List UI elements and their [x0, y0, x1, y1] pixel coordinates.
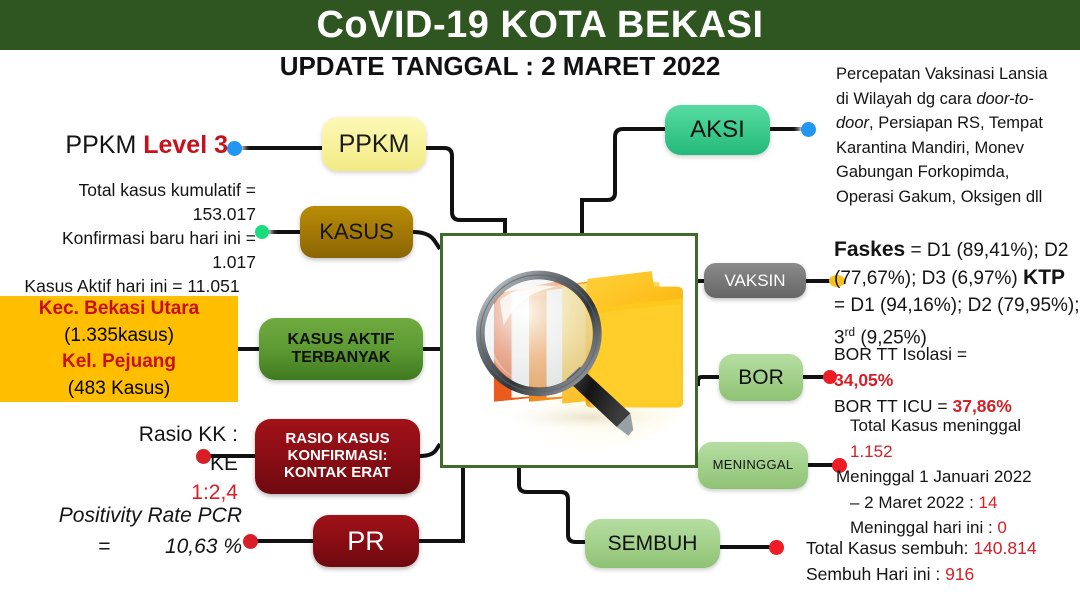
center-illustration-frame — [440, 233, 698, 468]
page-title: CoVID-19 KOTA BEKASI — [0, 2, 1080, 48]
meninggal-periode-line2: – 2 Maret 2022 : — [850, 493, 979, 512]
node-rasio-label: RASIO KASUS KONFIRMASI: KONTAK ERAT — [255, 431, 420, 481]
node-kasus-aktif-terbanyak[interactable]: KASUS AKTIF TERBANYAK — [259, 318, 423, 380]
ppkm-level-text: PPKM Level 3 — [60, 131, 228, 160]
node-kasus[interactable]: KASUS — [300, 206, 413, 258]
node-kasus-aktif-label: KASUS AKTIF TERBANYAK — [259, 331, 423, 367]
node-vaksin-label: VAKSIN — [704, 271, 806, 290]
bor-isolasi-label: BOR TT Isolasi = — [834, 341, 1080, 367]
aksi-description-text: Percepatan Vaksinasi Lansia di Wilayah d… — [836, 62, 1064, 210]
total-kumulatif-label: Total kasus kumulatif = — [8, 178, 256, 202]
meninggal-stats-text: Total Kasus meninggal 1.152 Meninggal 1 … — [836, 413, 1080, 541]
bor-isolasi-value: 34,05% — [834, 367, 1080, 393]
node-ppkm[interactable]: PPKM — [322, 117, 426, 171]
node-sembuh-label: SEMBUH — [585, 532, 720, 556]
node-bor[interactable]: BOR — [719, 354, 803, 401]
node-rasio-kasus-konfirmasi[interactable]: RASIO KASUS KONFIRMASI: KONTAK ERAT — [255, 419, 420, 494]
dot-pr — [243, 534, 258, 549]
highlight-kelurahan: Kel. Pejuang — [0, 349, 238, 376]
dot-aksi — [801, 122, 816, 137]
update-date-subtitle: UPDATE TANGGAL : 2 MARET 2022 — [180, 50, 820, 82]
kasus-stats-text: Total kasus kumulatif = 153.017 Konfirma… — [8, 178, 256, 298]
total-meninggal-label: Total Kasus meninggal — [836, 413, 1080, 439]
rasio-kk-ke-text: Rasio KK : KE 1:2,4 — [40, 420, 238, 507]
kasus-aktif-terbanyak-highlight: Kec. Bekasi Utara (1.335kasus) Kel. Peju… — [0, 296, 238, 402]
highlight-kecamatan-count: (1.335kasus) — [0, 323, 238, 350]
dot-kasus — [255, 225, 269, 239]
rasio-label-line2: KE — [40, 449, 238, 478]
konfirmasi-baru-label: Konfirmasi baru hari ini = — [8, 226, 256, 250]
sembuh-hari-value: 916 — [945, 564, 974, 584]
positivity-rate-equals: = — [98, 531, 110, 562]
positivity-rate-value: 10,63 % — [165, 535, 242, 558]
node-aksi-label: AKSI — [665, 117, 770, 144]
node-pr-label: PR — [313, 526, 419, 556]
kasus-aktif-hari-ini: Kasus Aktif hari ini = 11.051 — [8, 274, 256, 298]
sembuh-total-value: 140.814 — [973, 538, 1036, 558]
vaksin-stats-text: Faskes = D1 (89,41%); D2 (77,67%); D3 (6… — [834, 236, 1080, 351]
total-meninggal-value: 1.152 — [836, 439, 1080, 465]
bor-stats-text: BOR TT Isolasi = 34,05% BOR TT ICU = 37,… — [834, 341, 1080, 419]
node-kasus-label: KASUS — [300, 220, 413, 245]
rasio-label-line1: Rasio KK : — [40, 420, 238, 449]
highlight-kelurahan-count: (483 Kasus) — [0, 376, 238, 403]
folders-with-magnifying-glass-icon — [443, 236, 695, 465]
ppkm-label: PPKM — [65, 131, 143, 159]
konfirmasi-baru-value: 1.017 — [8, 250, 256, 274]
node-vaksin[interactable]: VAKSIN — [704, 263, 806, 298]
dot-ppkm — [227, 141, 242, 156]
meninggal-periode-line1: Meninggal 1 Januari 2022 — [836, 464, 1080, 490]
ktp-ordinal-suffix: rd — [845, 326, 855, 339]
faskes-label: Faskes — [834, 238, 905, 261]
dot-sembuh — [769, 540, 784, 555]
node-ppkm-label: PPKM — [322, 130, 426, 158]
sembuh-hari-label: Sembuh Hari ini : — [806, 564, 945, 584]
positivity-rate-label: Positivity Rate PCR — [14, 500, 242, 531]
highlight-kecamatan: Kec. Bekasi Utara — [0, 296, 238, 323]
ktp-label: KTP — [1023, 266, 1065, 289]
total-kumulatif-value: 153.017 — [8, 202, 256, 226]
node-meninggal[interactable]: MENINGGAL — [698, 442, 808, 489]
sembuh-total-label: Total Kasus sembuh: — [806, 538, 973, 558]
meninggal-periode-value: 14 — [979, 493, 998, 512]
node-meninggal-label: MENINGGAL — [698, 458, 808, 473]
node-pr[interactable]: PR — [313, 515, 419, 567]
node-bor-label: BOR — [719, 366, 803, 390]
sembuh-stats-text: Total Kasus sembuh: 140.814 Sembuh Hari … — [806, 535, 1080, 587]
ppkm-value: Level 3 — [143, 131, 228, 159]
node-sembuh[interactable]: SEMBUH — [585, 519, 720, 568]
positivity-rate-text: Positivity Rate PCR =10,63 % — [14, 500, 242, 562]
node-aksi[interactable]: AKSI — [665, 105, 770, 155]
infographic-canvas: CoVID-19 KOTA BEKASI UPDATE TANGGAL : 2 … — [0, 0, 1080, 602]
